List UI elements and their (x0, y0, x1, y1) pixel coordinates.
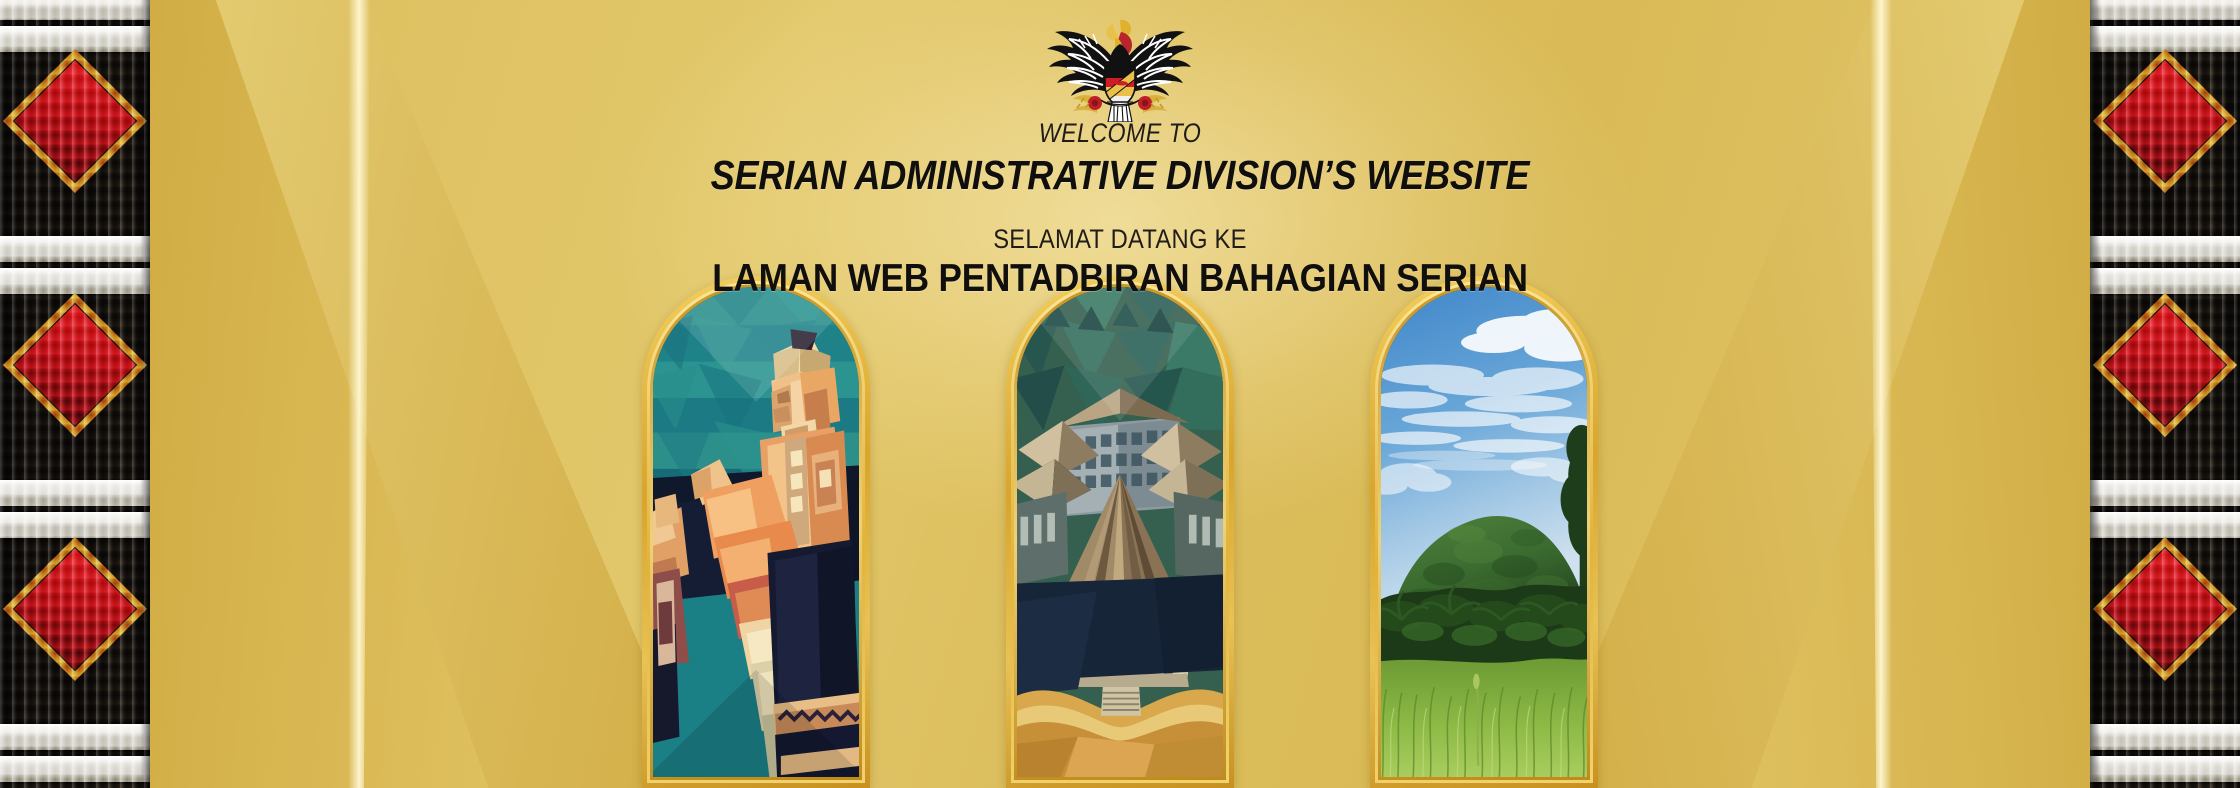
page-title-malay: LAMAN WEB PENTADBIRAN BAHAGIAN SERIAN (112, 257, 2128, 301)
arch-image-building (1017, 287, 1223, 777)
arch-frame-ring (1375, 281, 1593, 783)
headline-block: WELCOME TO SERIAN ADMINISTRATIVE DIVISIO… (0, 118, 2240, 301)
arch-frame-ring (1011, 281, 1229, 783)
welcome-banner: WELCOME TO SERIAN ADMINISTRATIVE DIVISIO… (0, 0, 2240, 788)
arch-image-hill (1381, 287, 1587, 777)
arch-image-gallery (0, 276, 2240, 788)
arch-frame-ring (647, 281, 865, 783)
page-title-english: SERIAN ADMINISTRATIVE DIVISION’S WEBSITE (134, 152, 2105, 199)
arch-frame-ring-inner (1378, 284, 1590, 780)
arch-frame-ring-inner (650, 284, 862, 780)
welcome-line-english: WELCOME TO (157, 118, 2083, 149)
arch-image-dancers (653, 287, 859, 777)
arch-hill-landscape[interactable] (1370, 276, 1598, 788)
sarawak-coat-of-arms-icon (1035, 14, 1205, 122)
arch-traditional-dancers[interactable] (642, 276, 870, 788)
arch-frame-ring-inner (1014, 284, 1226, 780)
arch-administrative-building[interactable] (1006, 276, 1234, 788)
welcome-line-malay: SELAMAT DATANG KE (134, 224, 2105, 255)
